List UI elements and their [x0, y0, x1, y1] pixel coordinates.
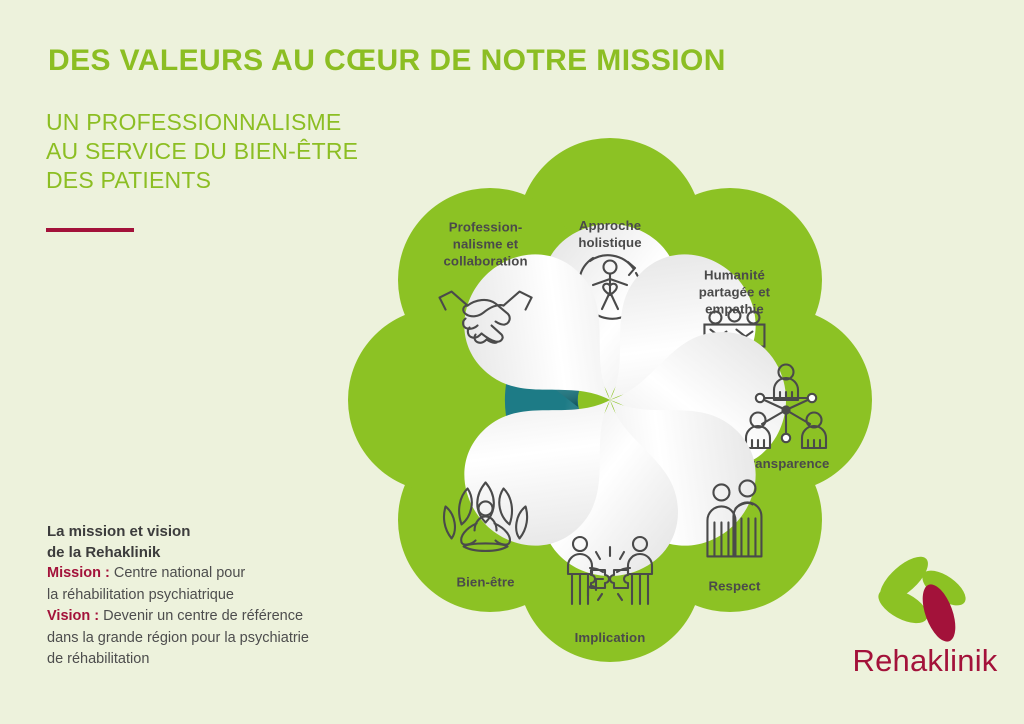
page-subtitle-line-1: UN PROFESSIONNALISME — [46, 108, 358, 137]
petal-label-bien-etre: Bien-être — [457, 574, 515, 589]
vision-text-line-1: Devenir un centre de référence — [99, 608, 303, 624]
mission-vision-title-line-2: de la Rehaklinik — [47, 542, 347, 563]
page-subtitle-line-3: DES PATIENTS — [46, 166, 358, 195]
petal-label-professionnalisme-line-1: Profession- — [449, 220, 523, 235]
page-subtitle: UN PROFESSIONNALISME AU SERVICE DU BIEN-… — [46, 108, 358, 195]
mission-paragraph: Mission : Centre national pour — [47, 563, 347, 585]
page-title: DES VALEURS AU CŒUR DE NOTRE MISSION — [48, 44, 726, 78]
mission-text-line-2: la réhabilitation psychiatrique — [47, 585, 347, 607]
petal-label-humanite-line-2: partagée et — [699, 285, 771, 300]
petal-label-professionnalisme-line-2: nalisme et — [453, 237, 519, 252]
petal-label-implication: Implication — [575, 630, 646, 645]
mission-vision-title-line-1: La mission et vision — [47, 521, 347, 542]
vision-text-line-3: de réhabilitation — [47, 649, 347, 671]
petal-label-transparence: Transparence — [743, 456, 830, 471]
mission-vision-block: La mission et vision de la Rehaklinik Mi… — [47, 521, 347, 671]
petal-label-approche-line-1: Approche — [579, 218, 641, 233]
petal-label-professionnalisme-line-3: collaboration — [443, 254, 527, 269]
values-flower-diagram: Approche holistique Humanité partagée et… — [322, 112, 898, 688]
title-underline-rule — [46, 228, 134, 232]
petal-label-approche-line-2: holistique — [578, 235, 641, 250]
vision-label: Vision : — [47, 608, 99, 624]
vision-text-line-2: dans la grande région pour la psychiatri… — [47, 628, 347, 650]
vision-paragraph: Vision : Devenir un centre de référence — [47, 606, 347, 628]
mission-label: Mission : — [47, 565, 110, 581]
page-subtitle-line-2: AU SERVICE DU BIEN-ÊTRE — [46, 137, 358, 166]
mission-text-line-1: Centre national pour — [110, 565, 245, 581]
petal-label-respect: Respect — [708, 578, 761, 593]
petal-label-humanite-line-1: Humanité — [704, 268, 765, 283]
